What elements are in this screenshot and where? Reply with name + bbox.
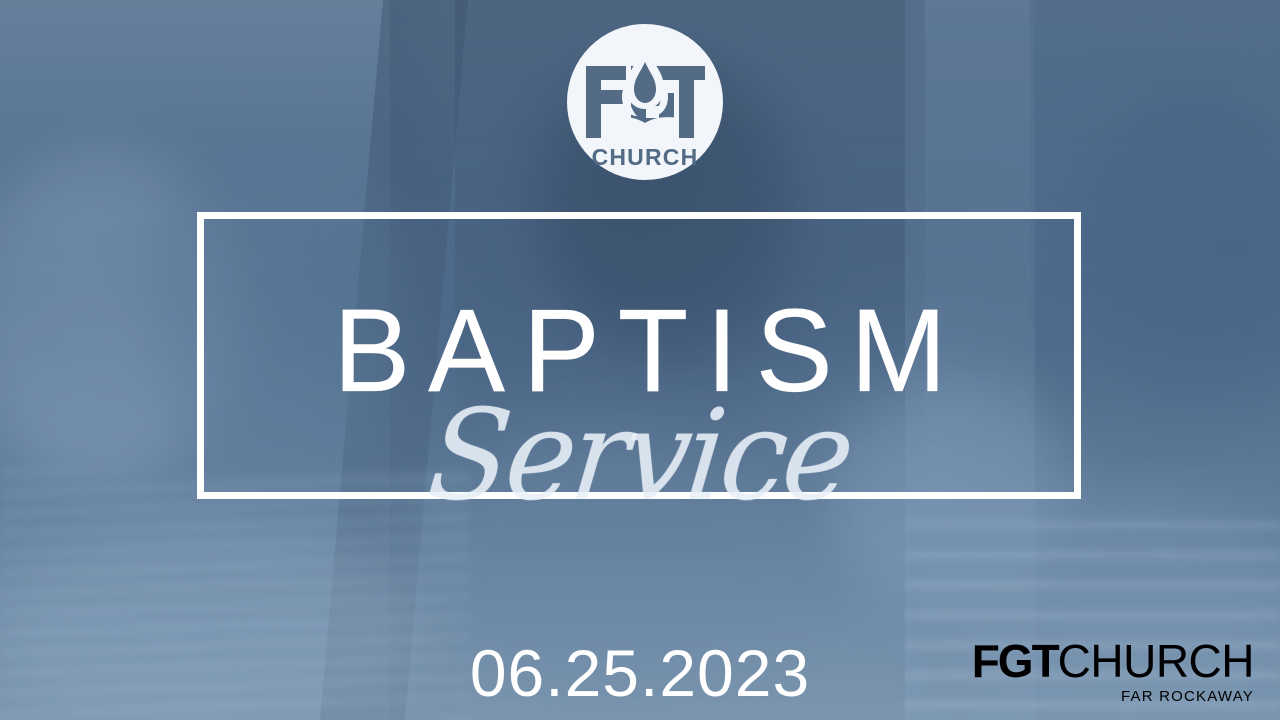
- event-date: 06.25.2023: [470, 640, 810, 706]
- logo-top-wordmark: CHURCH: [592, 144, 699, 170]
- logo-bottom-church: CHURCH: [1058, 635, 1254, 687]
- logo-bottom-wordmark-row: FGTCHURCH: [972, 640, 1254, 684]
- baptism-service-slide: CHURCH BAPTISM Service 06.25.2023 FGTCHU…: [0, 0, 1280, 720]
- logo-bottom-tagline: FAR ROCKAWAY: [972, 689, 1254, 704]
- fgt-church-logo-top: CHURCH: [565, 22, 725, 182]
- logo-bottom-fgt: FGT: [972, 635, 1058, 687]
- title-frame-border: [197, 212, 1081, 499]
- fgt-church-logo-bottom: FGTCHURCH FAR ROCKAWAY: [972, 640, 1254, 704]
